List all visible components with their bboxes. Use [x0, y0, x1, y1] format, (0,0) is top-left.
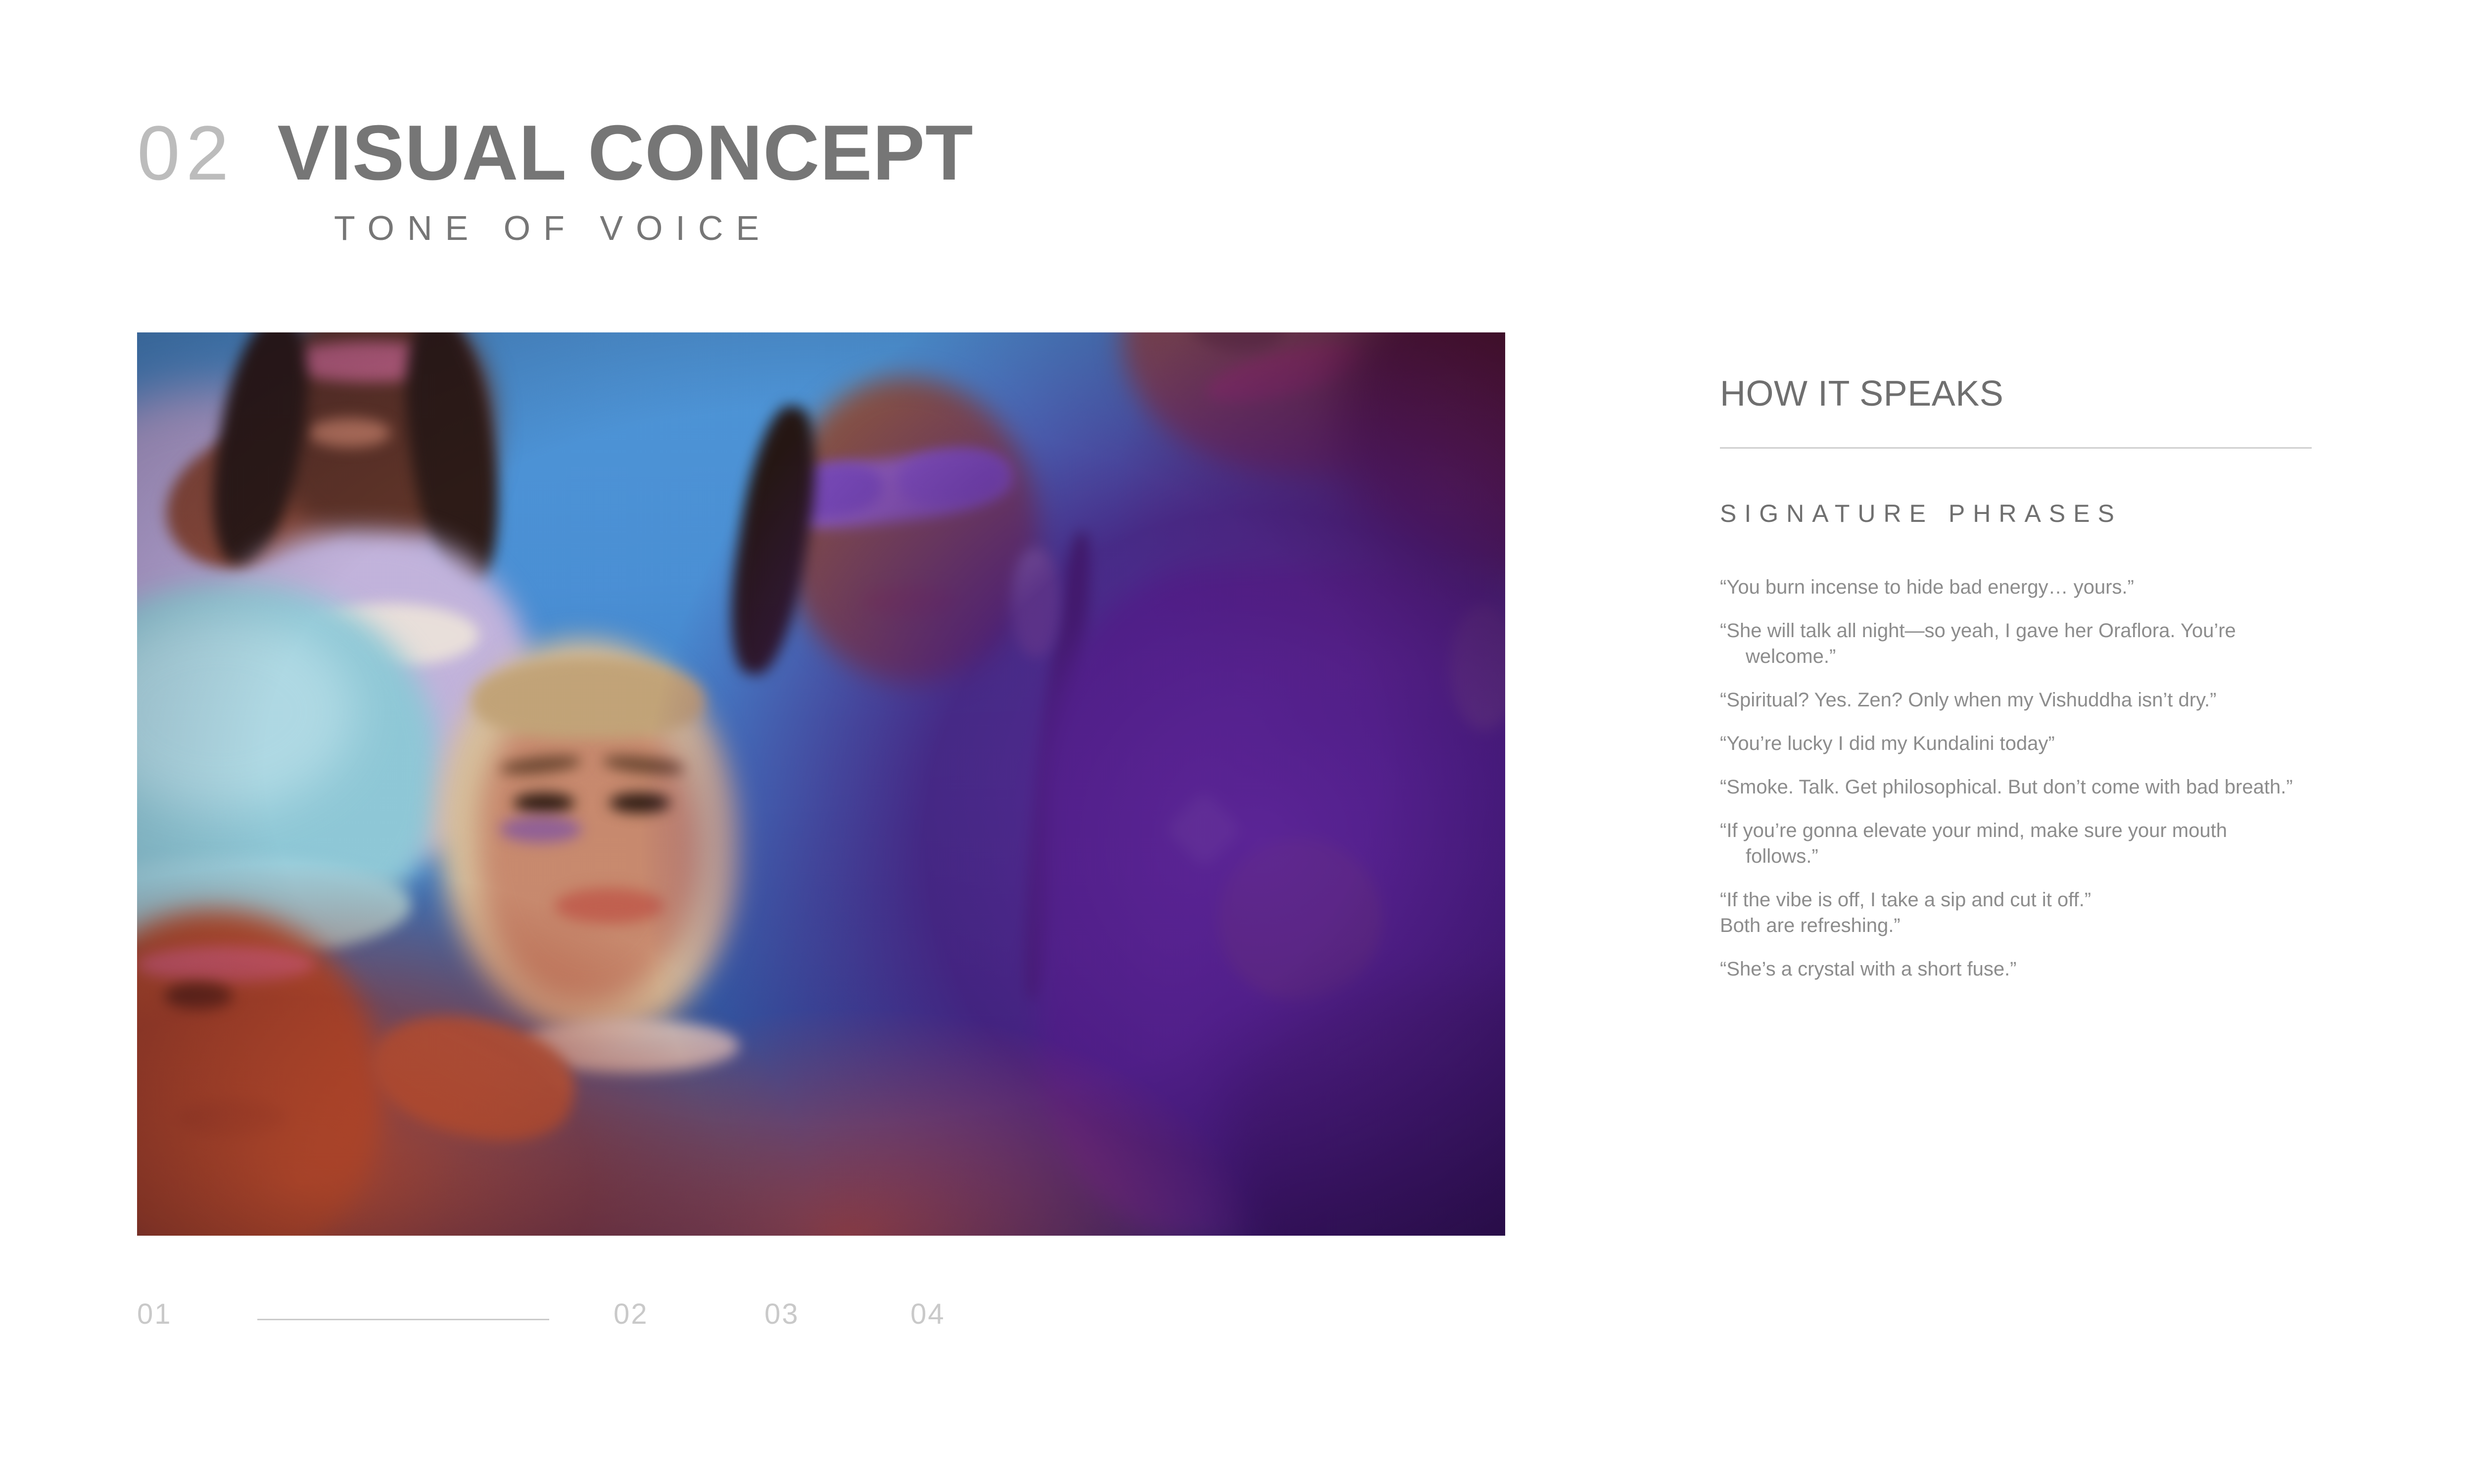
page-title: VISUAL CONCEPT [278, 114, 974, 192]
signature-phrase-item: “You’re lucky I did my Kundalini today” [1720, 731, 2305, 756]
pagination-item-02[interactable]: 02 [614, 1300, 649, 1329]
copy-panel-heading: HOW IT SPEAKS [1720, 376, 2312, 412]
section-subtitle: TONE OF VOICE [334, 211, 1522, 245]
signature-phrase-item: “She’s a crystal with a short fuse.” [1720, 956, 2305, 982]
section-number: 02 [137, 115, 235, 192]
photo-grain [137, 332, 1505, 1236]
signature-phrases-subheading: SIGNATURE PHRASES [1720, 501, 2312, 526]
signature-phrase-item: “If you’re gonna elevate your mind, make… [1720, 818, 2305, 869]
title-row: 02 VISUAL CONCEPT [137, 114, 1522, 192]
slide-header: 02 VISUAL CONCEPT TONE OF VOICE [137, 114, 1522, 245]
signature-phrase-item: “You burn incense to hide bad energy… yo… [1720, 574, 2305, 600]
pagination-item-01[interactable]: 01 [137, 1300, 172, 1329]
signature-phrase-list: “You burn incense to hide bad energy… yo… [1720, 574, 2312, 982]
pagination-item-03[interactable]: 03 [764, 1300, 800, 1329]
hero-photo [137, 332, 1505, 1236]
copy-panel: HOW IT SPEAKS SIGNATURE PHRASES “You bur… [1720, 376, 2312, 1000]
signature-phrase-item: “Smoke. Talk. Get philosophical. But don… [1720, 774, 2305, 800]
signature-phrase-item: “Spiritual? Yes. Zen? Only when my Vishu… [1720, 687, 2305, 713]
panel-divider [1720, 447, 2312, 449]
pagination-item-04[interactable]: 04 [910, 1300, 946, 1329]
signature-phrase-item: “She will talk all night—so yeah, I gave… [1720, 618, 2305, 669]
pagination: 01020304 [137, 1300, 978, 1345]
signature-phrase-item: “If the vibe is off, I take a sip and cu… [1720, 887, 2279, 938]
progress-line [257, 1319, 549, 1320]
